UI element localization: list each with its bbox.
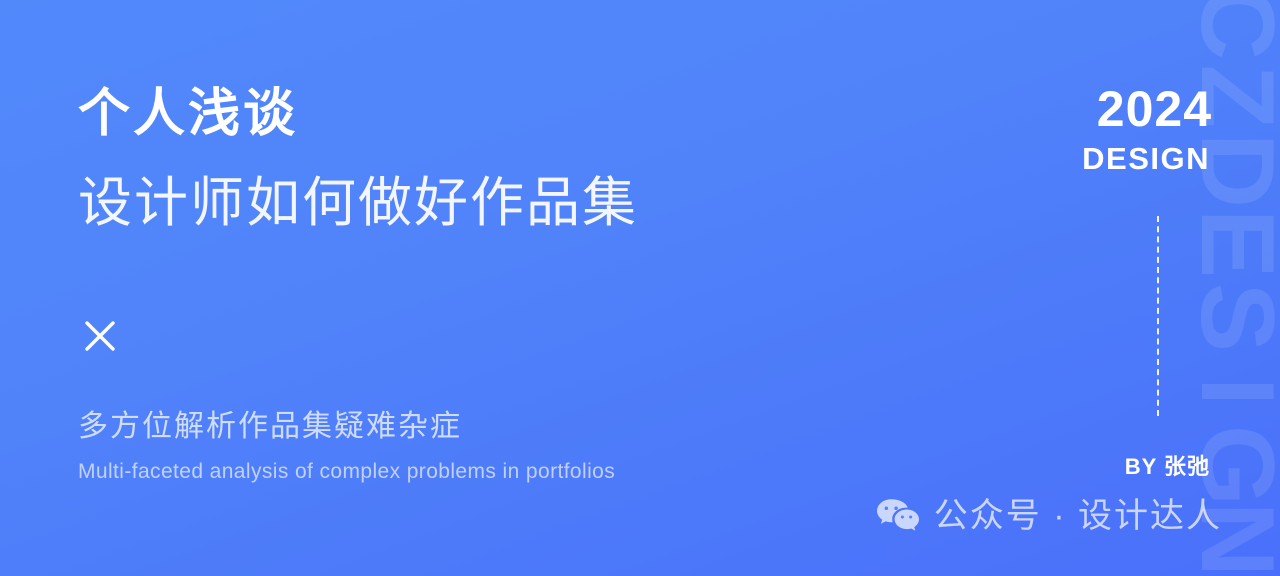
wechat-footer: 公众号 · 设计达人: [876, 498, 1222, 534]
author-byline: BY 张弛: [910, 456, 1210, 478]
wechat-icon: [876, 498, 920, 534]
headline-block: 个人浅谈 设计师如何做好作品集 多方位解析作品集疑难杂症 Multi-facet…: [78, 0, 778, 576]
year-label: 2024: [912, 84, 1212, 134]
wechat-account-label: 公众号 · 设计达人: [934, 499, 1222, 533]
right-rail: 2024 DESIGN BY 张弛: [912, 0, 1212, 576]
headline-primary: 个人浅谈: [78, 88, 298, 140]
design-label: DESIGN: [910, 143, 1210, 174]
poster-canvas: C Z D E S I G N 个人浅谈 设计师如何做好作品集 多方位解析作品集…: [0, 0, 1280, 576]
tagline-chinese: 多方位解析作品集疑难杂症: [78, 412, 462, 442]
headline-secondary: 设计师如何做好作品集: [78, 176, 638, 230]
tagline-english: Multi-faceted analysis of complex proble…: [78, 461, 615, 482]
cross-divider-icon: [80, 316, 120, 356]
dashed-divider: [1157, 216, 1159, 416]
